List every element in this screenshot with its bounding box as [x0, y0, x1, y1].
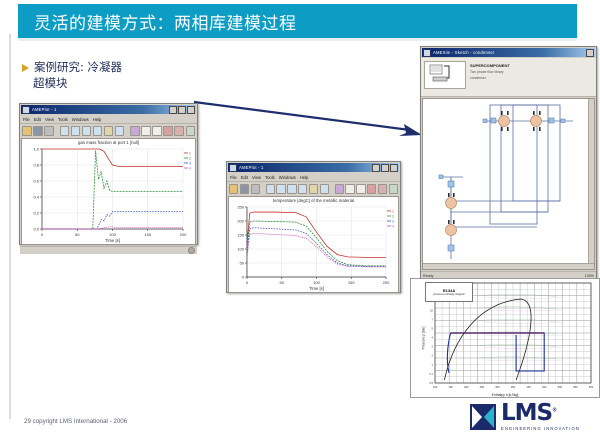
svg-text:150: 150 [144, 232, 151, 237]
window-titlebar[interactable]: AMEPlot - 1 [21, 105, 196, 114]
svg-text:2: 2 [189, 157, 191, 161]
resize-grip[interactable] [188, 247, 195, 254]
svg-text:100: 100 [109, 232, 116, 237]
menu-item-edit[interactable]: Edit [34, 117, 41, 122]
grid-icon[interactable] [163, 126, 173, 136]
window-title: AMEPlot - 1 [239, 165, 372, 170]
minimize-button[interactable] [372, 164, 380, 172]
svg-text:5: 5 [432, 326, 434, 330]
ameplot-window-2[interactable]: AMEPlot - 1 File Edit View Tools Windows… [226, 161, 401, 293]
app-icon [22, 106, 30, 114]
svg-text:50: 50 [280, 280, 285, 285]
svg-text:0: 0 [242, 275, 245, 280]
svg-text:200: 200 [180, 232, 187, 237]
ph-diagram-panel: 1001502002503003504004505005506004030201… [410, 278, 600, 398]
svg-text:450: 450 [542, 385, 547, 389]
table-icon[interactable] [174, 126, 184, 136]
svg-text:200: 200 [383, 280, 390, 285]
menu-item-help[interactable]: Help [93, 117, 102, 122]
text-icon[interactable] [141, 126, 151, 136]
export-icon[interactable] [389, 184, 398, 194]
legend-icon[interactable] [152, 126, 162, 136]
menu-item-help[interactable]: Help [300, 175, 309, 180]
slide-title-banner: 灵活的建模方式：两相库建模过程 [18, 4, 577, 38]
window-titlebar[interactable]: AMESim - Sketch - condenser [422, 48, 595, 57]
title-underline [18, 38, 577, 41]
status-text: Ready [423, 274, 433, 278]
ph-subtitle: pressure-enthalpy diagram [433, 293, 465, 296]
list-item: 案例研究: 冷凝器 [22, 60, 252, 76]
lms-wordmark-text: LMS [501, 400, 552, 426]
svg-text:100: 100 [313, 280, 320, 285]
toolbar[interactable] [20, 124, 197, 137]
close-button[interactable] [390, 164, 398, 172]
svg-text:200: 200 [237, 219, 244, 224]
svg-text:1: 1 [392, 210, 394, 214]
ph-xlabel: Enthalpy h [kJ/kg] [411, 393, 599, 397]
ph-ylabel: Pressure p [bar] [421, 327, 425, 350]
maximize-button[interactable] [178, 106, 186, 114]
zoom-fit-icon[interactable] [82, 126, 92, 136]
grid-icon[interactable] [367, 184, 376, 194]
svg-text:0.0: 0.0 [33, 227, 39, 232]
lms-mark-icon [470, 404, 496, 430]
export-icon[interactable] [186, 126, 196, 136]
left-accent-rule [9, 34, 11, 419]
svg-text:3: 3 [392, 220, 394, 224]
pointer-arrow [190, 98, 430, 140]
svg-text:50: 50 [75, 232, 80, 237]
svg-text:100: 100 [237, 247, 244, 252]
chart-plot-area-2: 0501001502000501001502002501234Time [s] [229, 197, 399, 291]
ph-diagram-legend-box: R134A pressure-enthalpy diagram [425, 282, 473, 302]
curve-icon[interactable] [335, 184, 344, 194]
supercomponent-title: SUPERCOMPONENT [470, 63, 593, 68]
svg-text:3: 3 [432, 345, 434, 349]
move-icon[interactable] [115, 126, 125, 136]
zoom-in-icon[interactable] [276, 184, 285, 194]
triangle-bullet-icon [22, 64, 29, 72]
lms-tagline: ENGINEERING INNOVATION [501, 426, 580, 431]
open-icon[interactable] [22, 126, 32, 136]
sketch-diagram [423, 99, 594, 267]
supercomponent-subtitle-2: condenser [470, 76, 593, 80]
window-titlebar[interactable]: AMEPlot - 1 [228, 163, 399, 172]
window-controls[interactable] [372, 164, 398, 172]
window-controls[interactable] [586, 49, 594, 57]
svg-text:7: 7 [432, 317, 434, 321]
component-thumbnail-icon [424, 61, 466, 89]
svg-text:150: 150 [237, 233, 244, 238]
plot-canvas-2: temperature [degC] of the metallic mater… [228, 196, 399, 293]
bullet-text-2: 超模块 [33, 76, 252, 92]
save-icon[interactable] [240, 184, 249, 194]
app-icon [229, 164, 237, 172]
supercomponent-meta: SUPERCOMPONENT Two phase flow library co… [470, 61, 593, 93]
amesim-sketch-window[interactable]: AMESim - Sketch - condenser SUPERCOMPONE… [420, 46, 597, 281]
menu-item-windows[interactable]: Windows [72, 117, 89, 122]
legend-icon[interactable] [356, 184, 365, 194]
chart-title-2: temperature [degC] of the metallic mater… [229, 198, 398, 203]
close-button[interactable] [586, 49, 594, 57]
svg-text:1.0: 1.0 [33, 147, 39, 152]
svg-text:2: 2 [392, 215, 394, 219]
svg-text:1: 1 [432, 363, 434, 367]
menu-item-file[interactable]: File [230, 175, 237, 180]
svg-text:0.6: 0.6 [33, 179, 39, 184]
maximize-button[interactable] [381, 164, 389, 172]
toolbar-separator-2 [330, 185, 333, 193]
menu-item-view[interactable]: View [252, 175, 261, 180]
svg-text:4: 4 [432, 336, 434, 340]
menu-item-file[interactable]: File [23, 117, 30, 122]
copy-icon[interactable] [60, 126, 70, 136]
svg-text:4: 4 [189, 167, 191, 171]
window-title: AMEPlot - 1 [32, 107, 169, 112]
close-button[interactable] [187, 106, 195, 114]
svg-text:100: 100 [433, 385, 438, 389]
page-title: 灵活的建模方式：两相库建模过程 [18, 9, 297, 34]
sketch-canvas[interactable] [422, 98, 595, 270]
toolbar-separator [261, 185, 264, 193]
svg-text:250: 250 [237, 205, 244, 210]
zoom-in-icon[interactable] [71, 126, 81, 136]
zoom-out-icon[interactable] [93, 126, 103, 136]
svg-text:0.4: 0.4 [33, 195, 39, 200]
print-icon[interactable] [251, 184, 260, 194]
supercomponent-header: SUPERCOMPONENT Two phase flow library co… [421, 58, 596, 97]
registered-mark: ® [552, 407, 556, 413]
menu-bar[interactable]: File Edit View Tools Windows Help [20, 115, 197, 124]
svg-text:Time [s]: Time [s] [309, 286, 324, 291]
table-icon[interactable] [378, 184, 387, 194]
svg-text:3: 3 [189, 162, 191, 166]
lms-wordmark: LMS® [501, 402, 580, 425]
zoom-out-icon[interactable] [298, 184, 307, 194]
app-icon [423, 49, 431, 57]
svg-text:50: 50 [240, 261, 245, 266]
svg-text:1: 1 [189, 152, 191, 156]
move-icon[interactable] [320, 184, 329, 194]
curve-icon[interactable] [130, 126, 140, 136]
toolbar-separator-2 [126, 127, 129, 135]
window-controls[interactable] [169, 106, 195, 114]
open-icon[interactable] [229, 184, 238, 194]
svg-text:0.2: 0.2 [33, 211, 39, 216]
zoom-fit-icon[interactable] [287, 184, 296, 194]
svg-text:250: 250 [480, 385, 485, 389]
bullet-list: 案例研究: 冷凝器 超模块 [22, 60, 252, 91]
svg-text:10: 10 [430, 308, 433, 312]
axis-icon[interactable] [104, 126, 114, 136]
print-icon[interactable] [44, 126, 54, 136]
svg-text:0.5: 0.5 [429, 381, 433, 385]
slide-canvas: 灵活的建模方式：两相库建模过程 案例研究: 冷凝器 超模块 AMEPlot - … [0, 0, 600, 437]
svg-text:2: 2 [432, 354, 434, 358]
supercomponent-subtitle: Two phase flow library [470, 70, 593, 74]
svg-text:0.8: 0.8 [33, 163, 39, 168]
bullet-text-1: 案例研究: 冷凝器 [34, 60, 122, 76]
save-icon[interactable] [33, 126, 43, 136]
chart-plot-area-1: 0501001502000.00.20.40.60.81.01234Time [… [22, 139, 196, 243]
text-icon[interactable] [345, 184, 354, 194]
zoom-level: 100% [585, 274, 594, 278]
status-bar [20, 246, 197, 254]
svg-text:Time [s]: Time [s] [105, 238, 120, 243]
lms-logo: LMS® ENGINEERING INNOVATION [470, 402, 580, 431]
axis-icon[interactable] [309, 184, 318, 194]
menu-item-edit[interactable]: Edit [241, 175, 248, 180]
svg-text:550: 550 [573, 385, 578, 389]
svg-text:200: 200 [464, 385, 469, 389]
menu-item-windows[interactable]: Windows [279, 175, 296, 180]
menu-item-tools[interactable]: Tools [265, 175, 275, 180]
copy-icon[interactable] [266, 184, 275, 194]
svg-text:0: 0 [41, 232, 44, 237]
toolbar-separator [55, 127, 58, 135]
horizontal-scrollbar[interactable] [423, 263, 594, 269]
svg-text:350: 350 [511, 385, 516, 389]
svg-text:4: 4 [392, 225, 394, 229]
ameplot-window-1[interactable]: AMEPlot - 1 File Edit View Tools Windows… [19, 103, 198, 245]
menu-item-tools[interactable]: Tools [58, 117, 68, 122]
chart-title-1: gas mass fraction at port 1 [null] [22, 140, 195, 145]
svg-text:0: 0 [246, 280, 249, 285]
minimize-button[interactable] [169, 106, 177, 114]
toolbar[interactable] [227, 182, 400, 195]
svg-text:300: 300 [495, 385, 500, 389]
svg-text:500: 500 [558, 385, 563, 389]
svg-text:0.7: 0.7 [429, 372, 433, 376]
menu-bar[interactable]: File Edit View Tools Windows Help [227, 173, 400, 182]
vertical-scrollbar[interactable] [588, 99, 594, 269]
footer-copyright: 29 copyright LMS International - 2006 [24, 418, 127, 425]
window-title: AMESim - Sketch - condenser [433, 50, 586, 55]
menu-item-view[interactable]: View [45, 117, 54, 122]
svg-text:400: 400 [526, 385, 531, 389]
svg-text:150: 150 [348, 280, 355, 285]
svg-text:600: 600 [589, 385, 594, 389]
svg-text:150: 150 [448, 385, 453, 389]
plot-canvas-1: gas mass fraction at port 1 [null] 05010… [21, 138, 196, 245]
